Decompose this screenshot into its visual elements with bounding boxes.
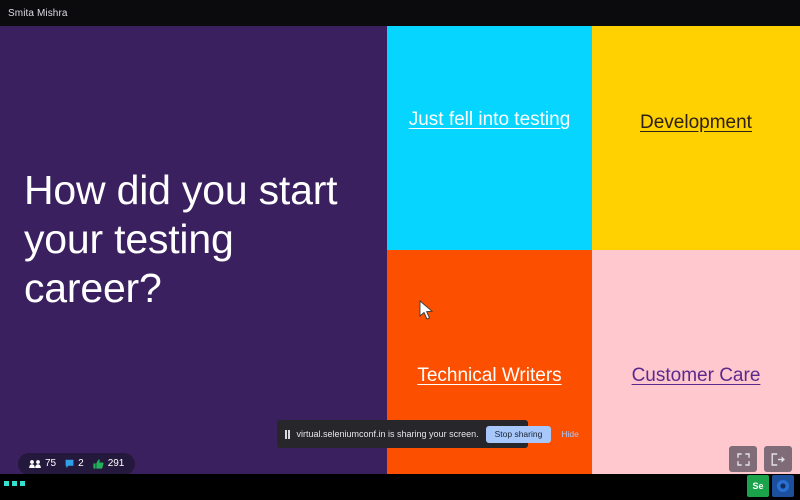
- answer-label-just-fell-into-testing: Just fell into testing: [409, 108, 571, 132]
- presentation-stage: How did you start your testing career? J…: [0, 26, 800, 474]
- answer-tile-just-fell-into-testing[interactable]: Just fell into testing: [387, 26, 592, 250]
- exit-icon: [771, 453, 786, 466]
- question-panel: How did you start your testing career?: [0, 26, 387, 474]
- participants-count: 75: [45, 459, 56, 469]
- comments-count: 2: [78, 459, 84, 469]
- thumbs-up-icon: [93, 459, 104, 469]
- stat-participants: 75: [29, 459, 56, 469]
- top-bar: Smita Mishra: [0, 0, 800, 26]
- exit-presentation-button[interactable]: [764, 446, 792, 472]
- tray-icon-browser[interactable]: [772, 475, 794, 497]
- likes-count: 291: [108, 459, 125, 469]
- answer-tile-development[interactable]: Development: [592, 26, 800, 250]
- question-text: How did you start your testing career?: [24, 166, 354, 312]
- stats-pill: 75 2 291: [18, 453, 135, 475]
- tray-icon-selenium[interactable]: Se: [747, 475, 769, 497]
- answer-label-technical-writers: Technical Writers: [417, 364, 561, 388]
- answer-label-customer-care: Customer Care: [632, 364, 761, 388]
- stat-comments: 2: [65, 459, 84, 469]
- system-tray: Se: [747, 475, 794, 497]
- stat-likes: 291: [93, 459, 125, 469]
- taskbar: Se: [0, 474, 800, 500]
- speech-bubble-icon: [65, 459, 74, 469]
- tray-icon-selenium-label: Se: [752, 481, 763, 491]
- answer-tile-customer-care[interactable]: Customer Care: [592, 250, 800, 474]
- browser-icon: [776, 479, 790, 493]
- fullscreen-icon: [737, 453, 750, 466]
- answer-grid: Just fell into testing Development Techn…: [387, 26, 800, 474]
- share-message: virtual.seleniumconf.in is sharing your …: [297, 429, 479, 439]
- stop-sharing-button[interactable]: Stop sharing: [486, 426, 552, 443]
- people-icon: [29, 459, 41, 469]
- answer-label-development: Development: [640, 111, 752, 135]
- pause-icon: [285, 430, 290, 439]
- slide-controls: [729, 446, 792, 472]
- screen-share-notification: virtual.seleniumconf.in is sharing your …: [277, 420, 528, 448]
- more-options-icon[interactable]: [4, 478, 28, 488]
- fullscreen-button[interactable]: [729, 446, 757, 472]
- presenter-name: Smita Mishra: [0, 8, 68, 19]
- hide-button[interactable]: Hide: [558, 429, 581, 439]
